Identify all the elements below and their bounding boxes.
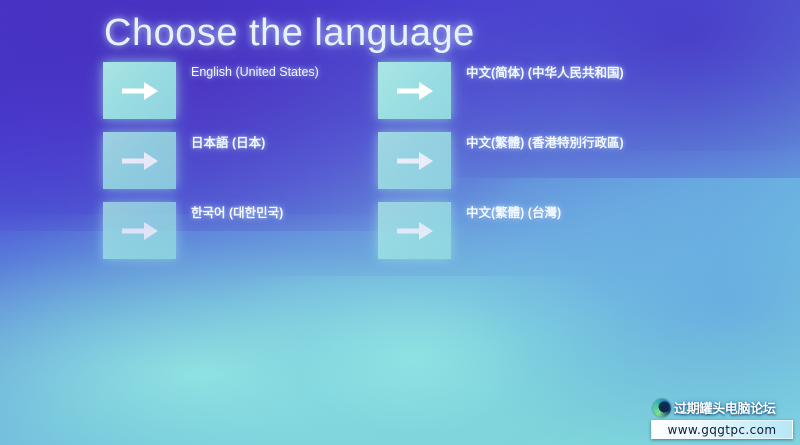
language-option-japanese-japan[interactable]: 日本語 (日本) (103, 132, 378, 196)
watermark: 过期罐头电脑论坛 www.gqgtpc.com (651, 396, 793, 439)
language-list: English (United States) 中文(简体) (中华人民共和国)… (103, 62, 663, 266)
page-title: Choose the language (104, 12, 475, 55)
language-option-chinese-traditional-taiwan[interactable]: 中文(繁體) (台灣) (378, 202, 653, 266)
language-option-chinese-simplified-prc[interactable]: 中文(简体) (中华人民共和国) (378, 62, 653, 126)
language-option-label: English (United States) (191, 64, 366, 81)
language-option-label: 中文(繁體) (香港特別行政區) (466, 134, 641, 152)
arrow-right-icon (120, 149, 160, 173)
language-option-label: 中文(简体) (中华人民共和国) (466, 64, 641, 82)
language-option-label: 日本語 (日本) (191, 134, 366, 152)
language-option-korean-south-korea[interactable]: 한국어 (대한민국) (103, 202, 378, 266)
arrow-right-icon (120, 219, 160, 243)
background-glow-cyan-bottom (208, 276, 624, 445)
watermark-header: 过期罐头电脑论坛 (651, 396, 793, 419)
language-select-tile[interactable] (378, 132, 451, 189)
language-option-chinese-traditional-hong-kong[interactable]: 中文(繁體) (香港特別行政區) (378, 132, 653, 196)
watermark-url: www.gqgtpc.com (651, 420, 793, 439)
language-select-tile[interactable] (378, 62, 451, 119)
language-select-tile[interactable] (103, 202, 176, 259)
language-select-tile[interactable] (103, 132, 176, 189)
arrow-right-icon (395, 79, 435, 103)
language-selection-screen: Choose the language English (United Stat… (0, 0, 800, 445)
arrow-right-icon (120, 79, 160, 103)
language-option-english-united-states[interactable]: English (United States) (103, 62, 378, 126)
language-select-tile[interactable] (103, 62, 176, 119)
language-option-label: 한국어 (대한민국) (191, 204, 366, 222)
watermark-site-name: 过期罐头电脑论坛 (674, 398, 776, 417)
arrow-right-icon (395, 149, 435, 173)
arrow-right-icon (395, 219, 435, 243)
language-option-label: 中文(繁體) (台灣) (466, 204, 641, 222)
forum-logo-icon (653, 399, 671, 417)
language-select-tile[interactable] (378, 202, 451, 259)
